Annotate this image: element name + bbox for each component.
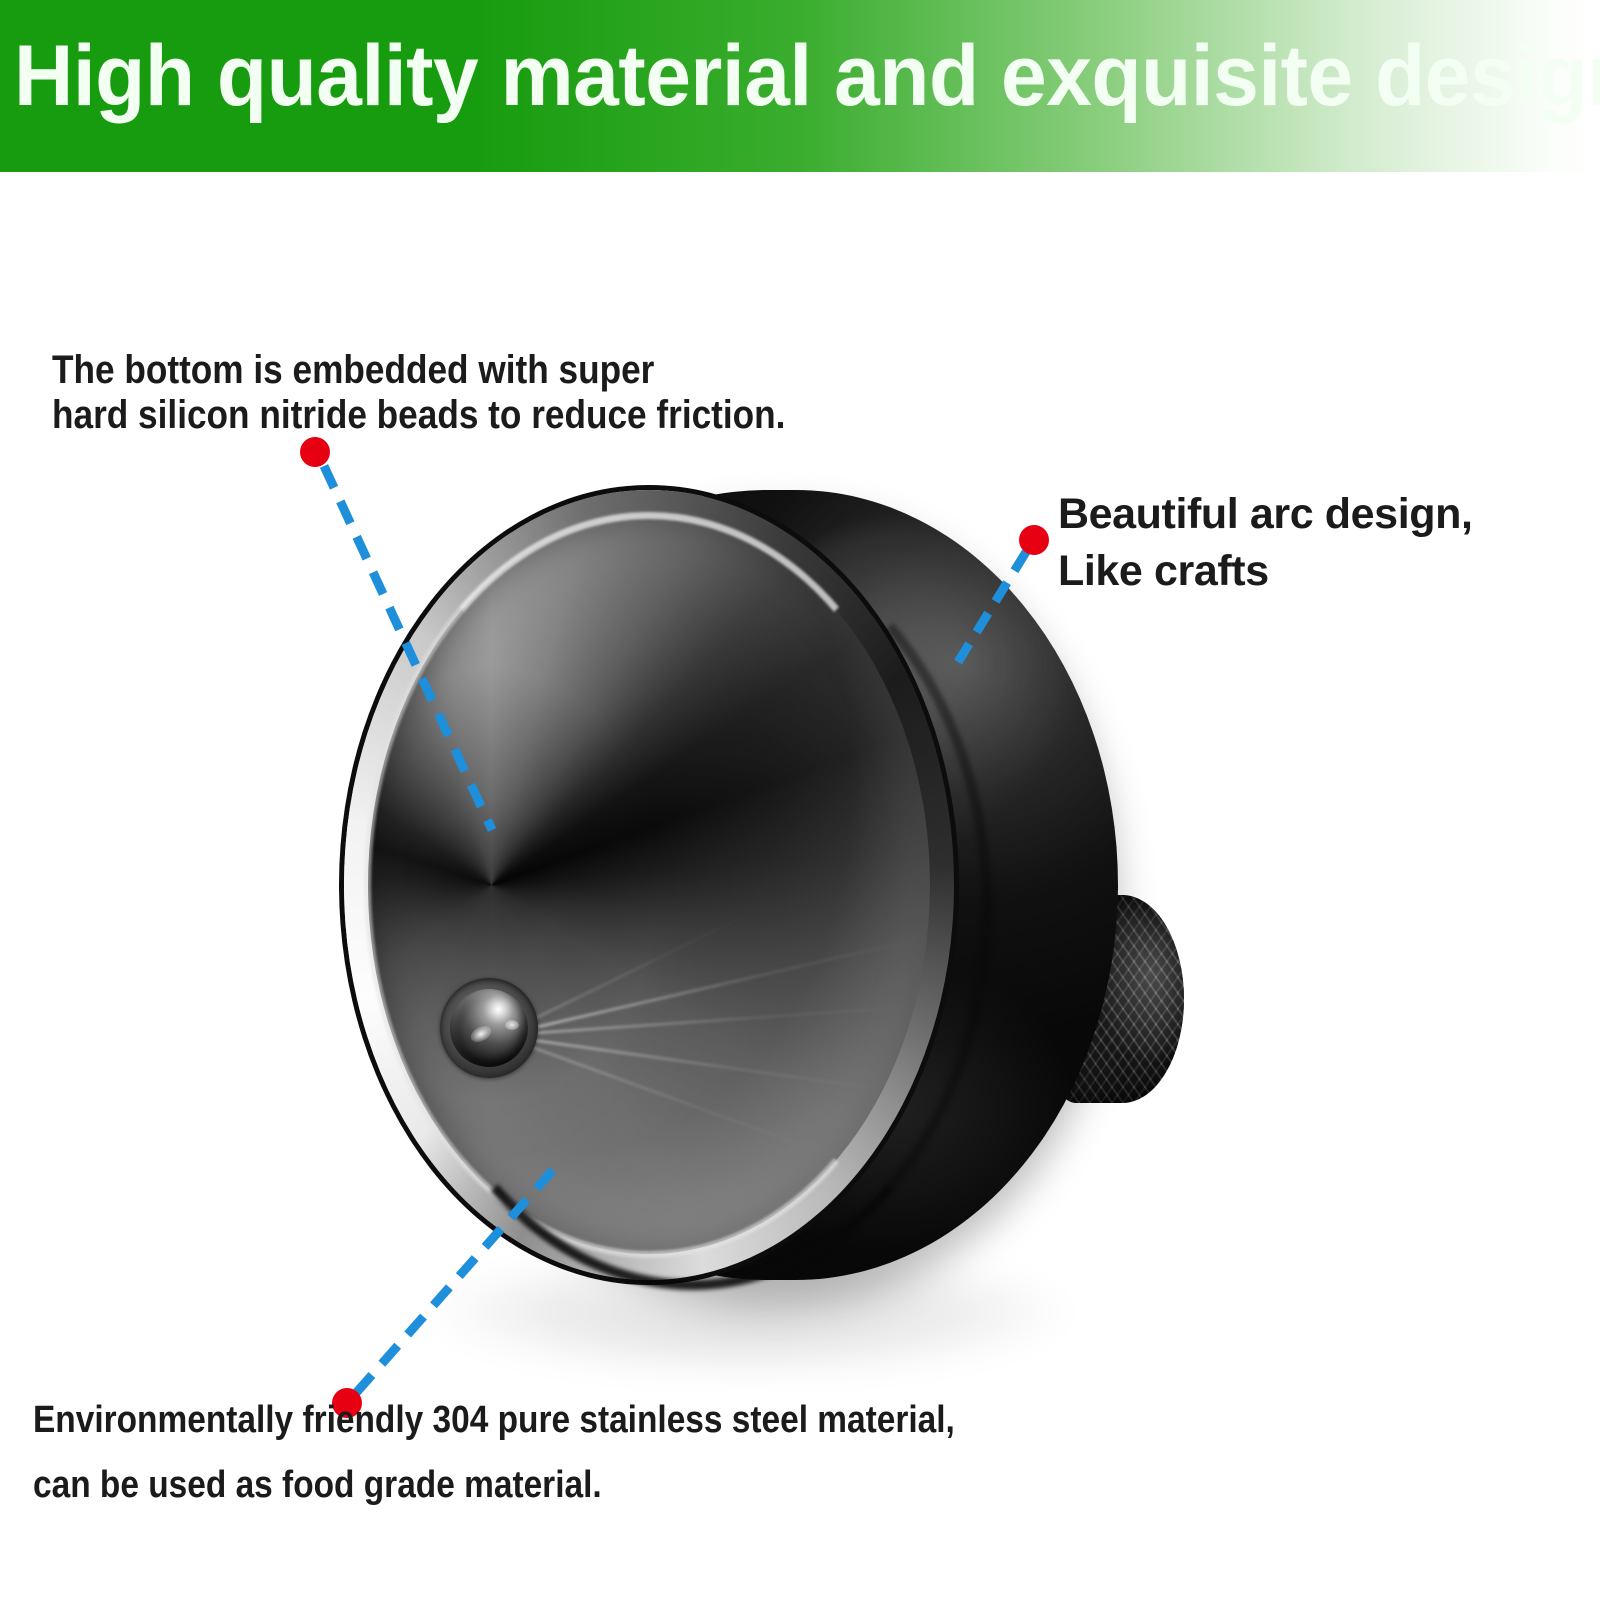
bead-highlight-icon	[505, 1020, 519, 1030]
header-banner: High quality material and exquisite desi…	[0, 0, 1600, 172]
callout-label-arc-design: Beautiful arc design, Like crafts	[1058, 486, 1473, 600]
product-under-rim-shadow	[392, 524, 992, 1290]
callout-label-bottom-beads: The bottom is embedded with super hard s…	[52, 348, 785, 438]
page-title: High quality material and exquisite desi…	[14, 26, 1600, 126]
callout-label-stainless-steel: Environmentally friendly 304 pure stainl…	[33, 1388, 955, 1518]
